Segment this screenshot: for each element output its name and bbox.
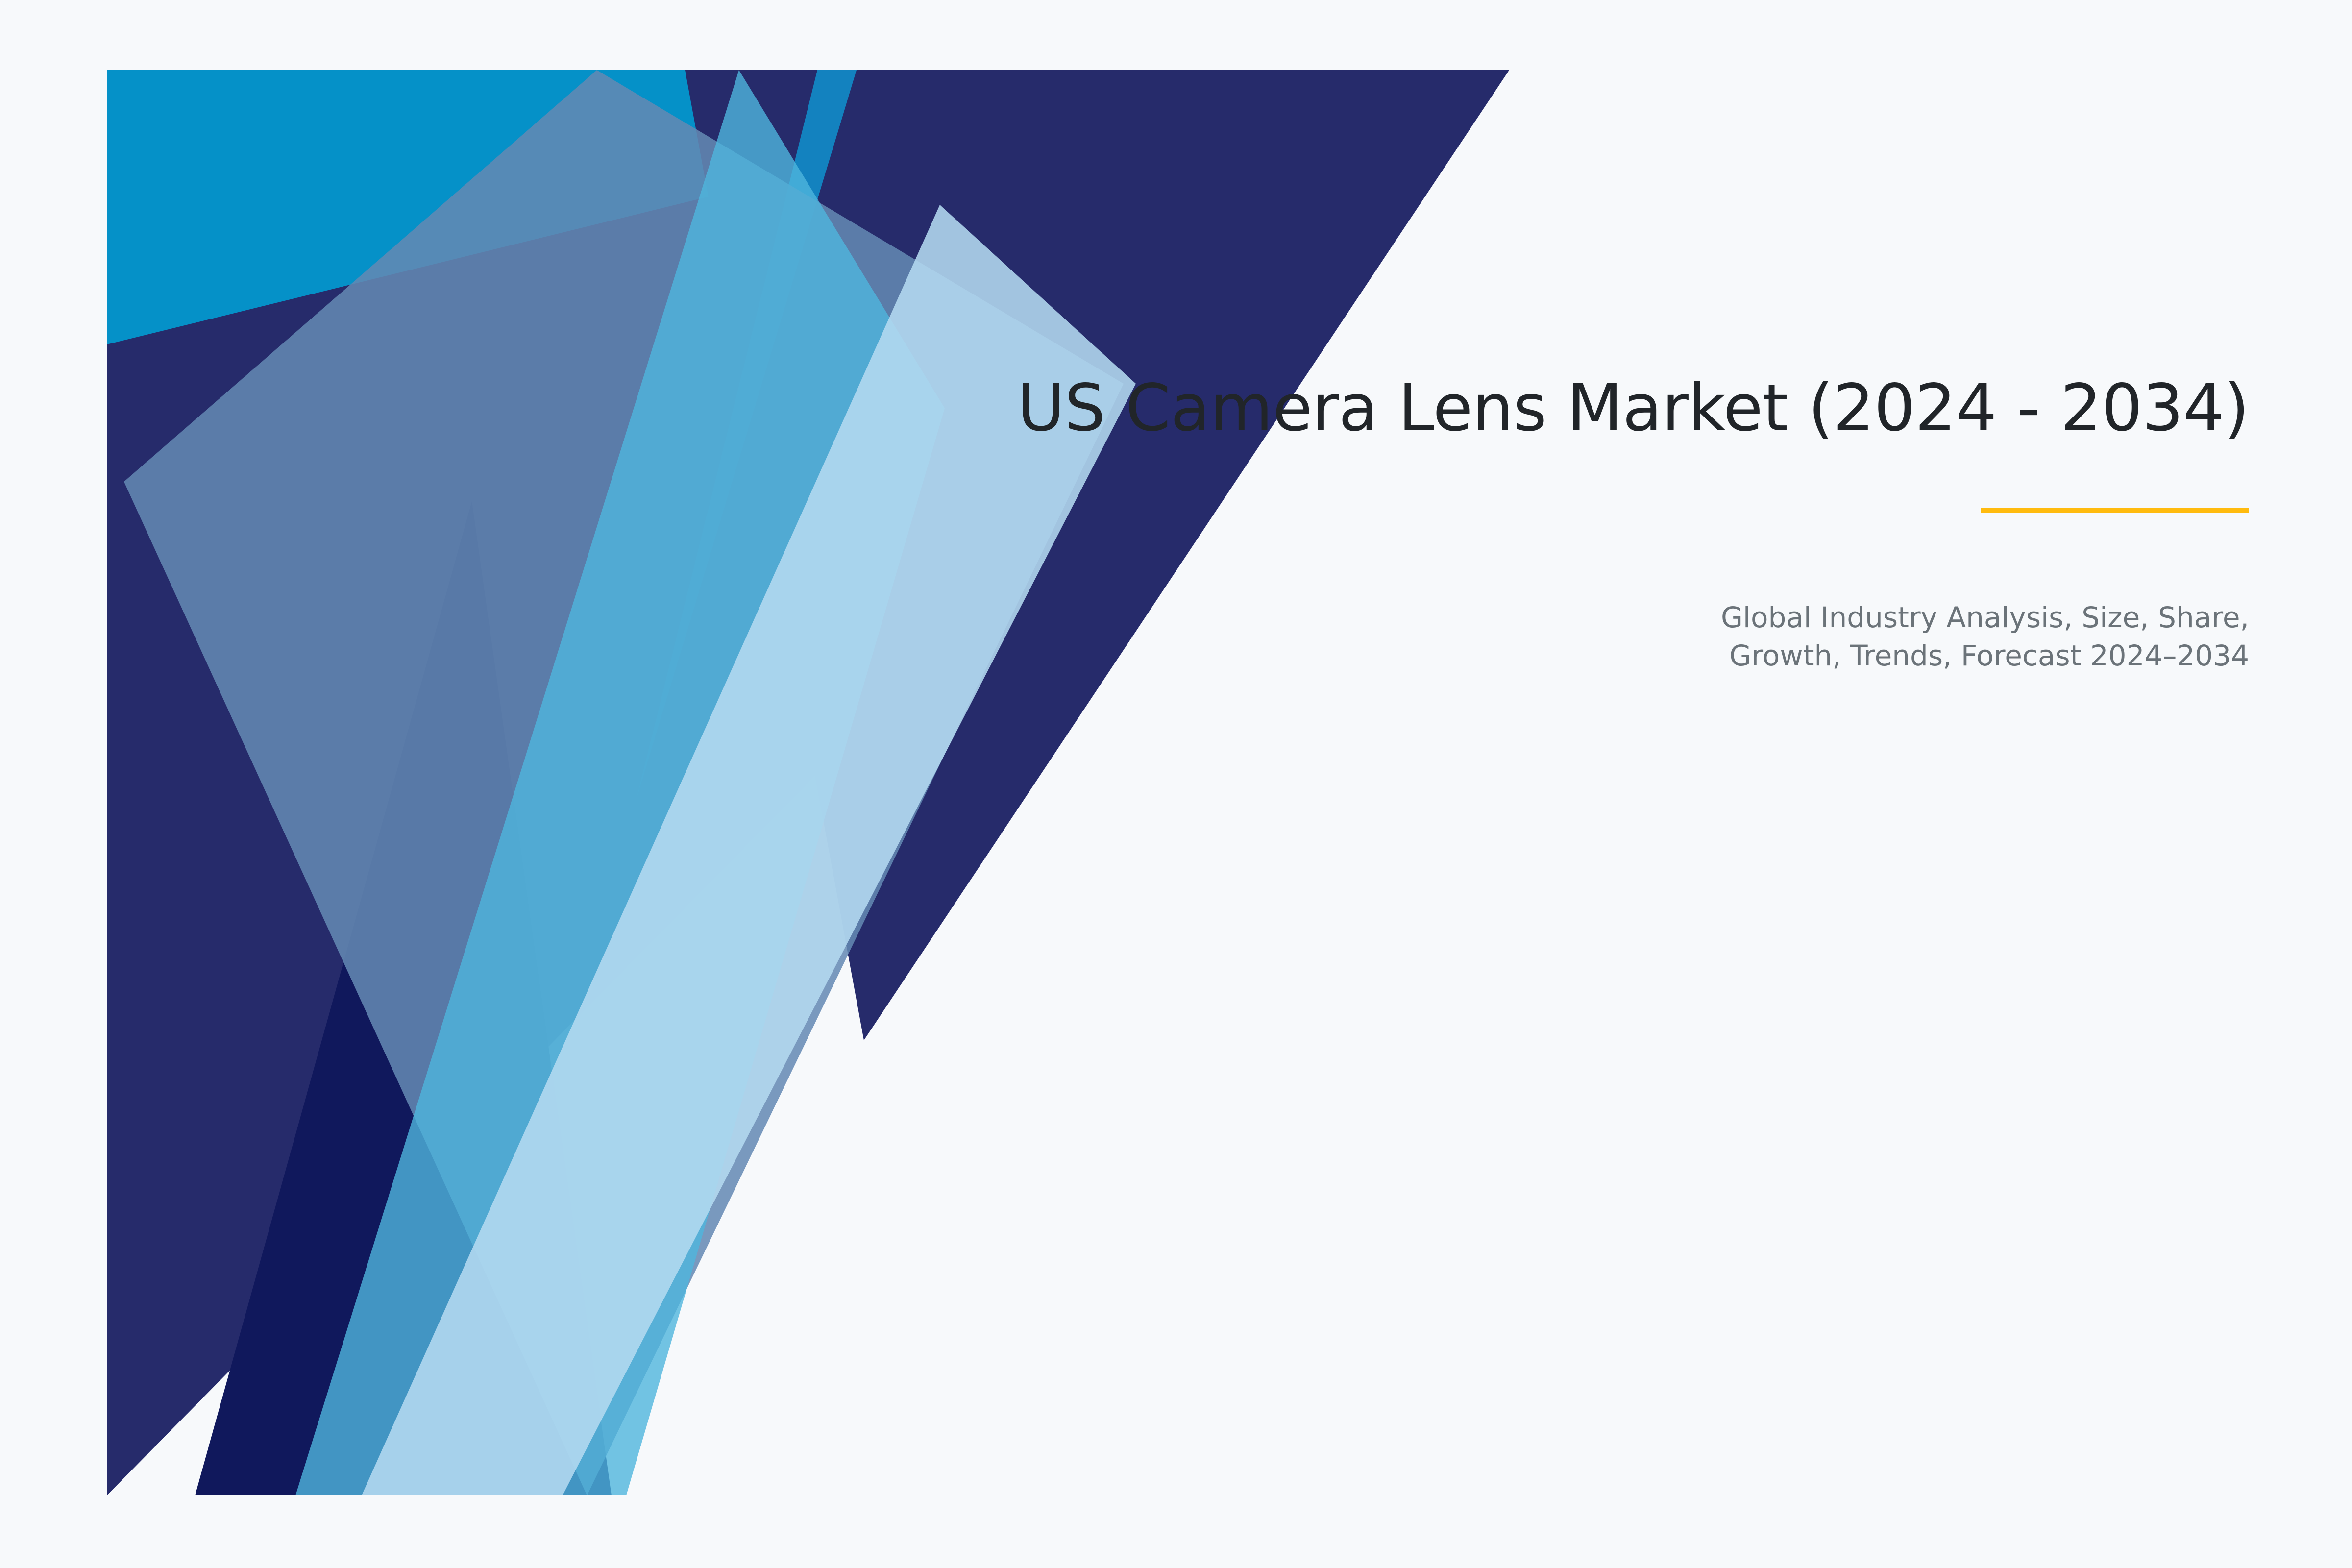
slide-canvas: US Camera Lens Market (2024 - 2034) Glob… <box>0 0 2352 1568</box>
cover-text-block: US Camera Lens Market (2024 - 2034) Glob… <box>735 372 2249 675</box>
accent-rule-container <box>735 508 2249 513</box>
cover-artwork-svg <box>107 70 1509 1495</box>
cover-artwork <box>107 70 1509 1495</box>
page-subtitle: Global Industry Analysis, Size, Share, G… <box>1602 599 2249 675</box>
page-title: US Camera Lens Market (2024 - 2034) <box>735 372 2249 445</box>
accent-rule <box>1981 508 2249 513</box>
